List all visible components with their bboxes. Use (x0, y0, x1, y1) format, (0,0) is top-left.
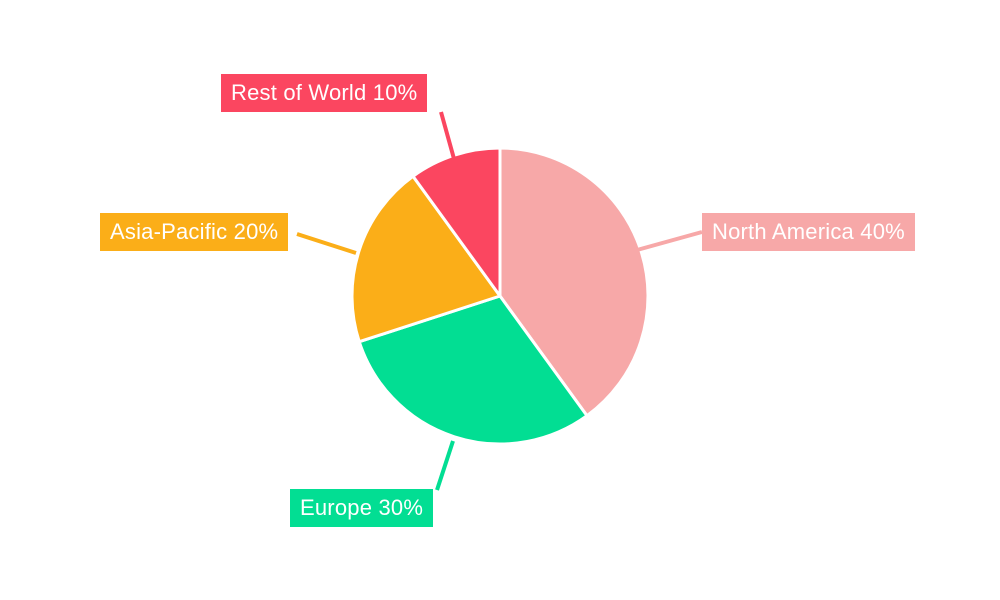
pie-chart-canvas (0, 0, 1000, 600)
pie-label-text-rest-of-world: Rest of World 10% (231, 82, 417, 104)
pie-slices (352, 148, 648, 444)
pie-label-text-north-america: North America 40% (712, 221, 905, 243)
pie-label-text-europe: Europe 30% (300, 497, 423, 519)
pie-label-north-america: North America 40% (702, 213, 915, 251)
pie-label-europe: Europe 30% (290, 489, 433, 527)
pie-label-asia-pacific: Asia-Pacific 20% (100, 213, 288, 251)
leader-line-asia-pacific (297, 234, 356, 253)
leader-line-europe (437, 441, 453, 490)
leader-line-north-america (637, 232, 702, 250)
pie-label-text-asia-pacific: Asia-Pacific 20% (110, 221, 278, 243)
pie-chart-figure: North America 40% Europe 30% Asia-Pacifi… (0, 0, 1000, 600)
pie-label-rest-of-world: Rest of World 10% (221, 74, 427, 112)
